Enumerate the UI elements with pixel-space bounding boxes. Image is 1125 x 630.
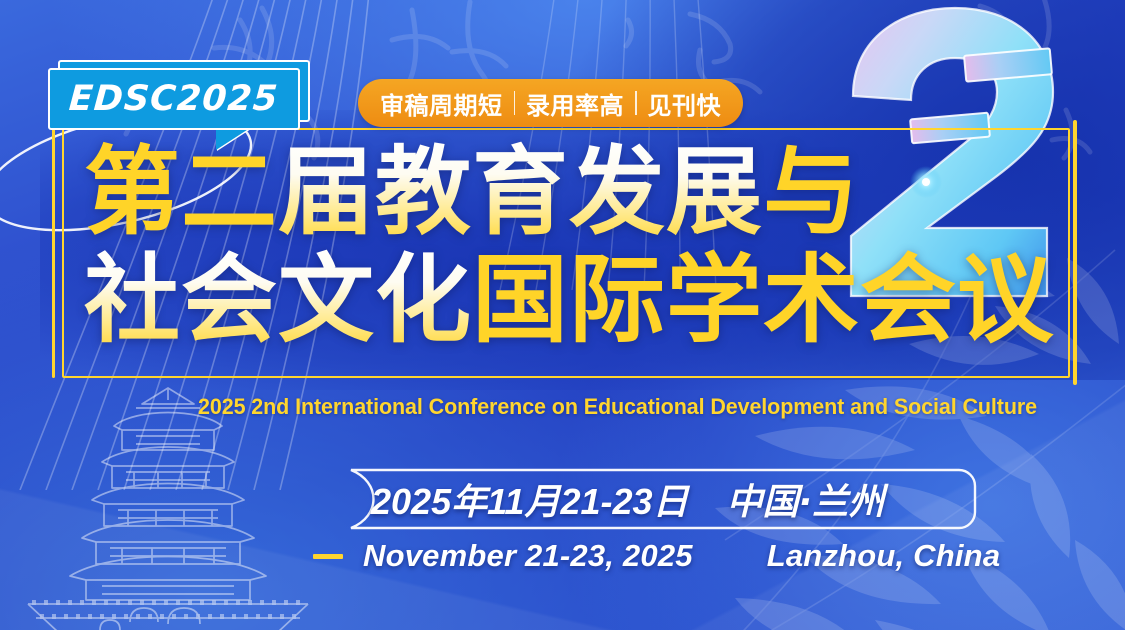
- title-seg-1c: 与: [763, 136, 860, 248]
- pagoda-illustration: [18, 386, 318, 630]
- title-seg-1a: 第二: [84, 136, 278, 248]
- frame-left-bar: [52, 120, 55, 378]
- highlight-separator-2: [635, 91, 637, 115]
- title-seg-2a: 社会文化: [84, 244, 472, 356]
- date-cn: 2025年11月21-23日: [371, 473, 689, 525]
- frame-right-bar: [1073, 120, 1077, 385]
- highlights-pill: 审稿周期短 录用率高 见刊快: [358, 79, 743, 127]
- title-line-2: 社会文化国际学术会议: [84, 246, 1054, 354]
- location-cn: 中国·兰州: [727, 473, 885, 525]
- title-seg-1b: 届教育发展: [278, 136, 763, 248]
- date-en: November 21-23, 2025: [363, 538, 693, 574]
- highlight-item-2: 录用率高: [526, 86, 624, 121]
- edsc-badge: EDSC2025: [48, 68, 300, 130]
- title-line-1: 第二届教育发展与: [84, 138, 1054, 246]
- conference-banner: EDSC2025 审稿周期短 录用率高 见刊快 第二届教育发展与 社会文化国际学…: [0, 0, 1125, 630]
- dash-icon: [313, 554, 343, 559]
- highlight-separator-1: [514, 91, 516, 115]
- highlight-item-1: 审稿周期短: [380, 86, 503, 121]
- conference-subtitle-en: 2025 2nd International Conference on Edu…: [198, 394, 1037, 420]
- date-location-text: 2025年11月21-23日 中国·兰州: [371, 468, 884, 530]
- conference-title-cn: 第二届教育发展与 社会文化国际学术会议: [84, 138, 1054, 354]
- date-location-bar: 2025年11月21-23日 中国·兰州: [313, 468, 985, 530]
- edsc-badge-label: EDSC2025: [68, 79, 280, 119]
- date-location-en-line: November 21-23, 2025 Lanzhou, China: [313, 538, 1000, 574]
- title-seg-2b: 国际学术会议: [472, 244, 1054, 356]
- highlight-item-3: 见刊快: [648, 86, 722, 121]
- location-en: Lanzhou, China: [767, 538, 1001, 574]
